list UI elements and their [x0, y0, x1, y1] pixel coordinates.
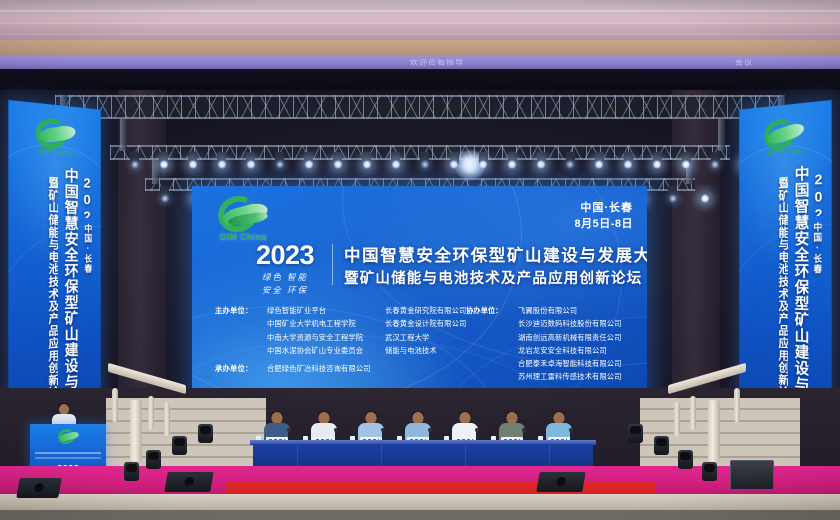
co-organizer-row-spacer: [466, 370, 518, 383]
moving-head-light: [420, 152, 429, 165]
moving-head-light: [160, 186, 169, 199]
floor-light-4: [198, 424, 213, 443]
title-divider: [332, 244, 333, 285]
conference-title-sub: 暨矿山储能与电池技术及产品应用创新论坛: [344, 267, 642, 288]
moving-head-light: [595, 152, 604, 165]
side-right-logo-text: GIM China: [759, 147, 809, 158]
side-right-place: 中国·长春: [812, 222, 821, 284]
side-right-year: 2023: [811, 171, 825, 217]
organizer-row-spacer: [215, 331, 267, 344]
event-place-date: 中国·长春 8月5日-8日: [574, 201, 633, 233]
co-organizer-name: 龙岩龙安安全科技有限公司: [518, 344, 607, 357]
moving-head-light: [700, 186, 709, 199]
year-motto-line1: 绿色 智能: [242, 271, 328, 284]
co-organizer-row-spacer: [466, 331, 518, 344]
moving-head-light: [450, 152, 459, 165]
co-organizer-name: 长沙迪迈数码科技股份有限公司: [518, 317, 622, 330]
truss-main: [55, 95, 785, 119]
moving-head-light: [566, 152, 575, 165]
event-year-block: 2023 绿色 智能 安全 环保: [242, 242, 328, 297]
conference-stage-photo: 欢迎莅临指导 会议 GIM China 中国·长春 8月5日-8日: [0, 0, 840, 520]
year-motto-line2: 安全 环保: [242, 284, 328, 297]
moving-head-light: [537, 152, 546, 165]
organizer-row-spacer: [215, 317, 267, 330]
organizer-row-spacer: [215, 344, 267, 357]
moving-head-light: [333, 152, 342, 165]
organizer-name: 武汉工程大学: [385, 331, 429, 344]
co-organizer-row-spacer: [466, 357, 518, 370]
ceiling-led-ticker: 欢迎莅临指导 会议: [0, 56, 840, 70]
event-place: 中国·长春: [574, 201, 633, 217]
side-banner-left: GIM China 2023 中国·长春 中国智慧安全环保型矿山建设与发展大会 …: [8, 100, 100, 420]
co-organizer-name: 湖南创远高新机械有限责任公司: [518, 331, 622, 344]
moving-head-light: [159, 152, 168, 165]
co-organizer-name: 苏州理工雷科传感技术有限公司: [518, 370, 622, 383]
stage-monitor-left: [164, 472, 214, 492]
moving-head-light: [362, 152, 371, 165]
organizer-name: 中国水泥协会矿山专业委员会: [267, 344, 385, 357]
floor-light-7: [678, 450, 693, 469]
co-organizers-block: 协办单位：飞翼股份有限公司长沙迪迈数码科技股份有限公司湖南创远高新机械有限责任公…: [466, 304, 622, 384]
side-left-logo-text: GIM China: [31, 147, 81, 158]
moving-head-light: [668, 186, 677, 199]
co-organizer-name: 合肥泰禾卓海智能科技有限公司: [518, 357, 622, 370]
side-left-place: 中国·长春: [83, 224, 91, 283]
moving-head-light: [711, 152, 720, 165]
organizer-name: 储能与电池技术: [385, 344, 437, 357]
side-right-title-sub: 暨矿山储能与电池技术及产品应用创新论坛: [777, 177, 788, 416]
side-banner-right: GIM China 2023 中国·长春 中国智慧安全环保型矿山建设与发展大会 …: [739, 100, 831, 420]
floor-light-5: [628, 424, 643, 443]
moving-head-light: [188, 152, 197, 165]
podium-logo: [55, 429, 81, 451]
moving-head-light: [130, 152, 139, 165]
truss-drop-2: [718, 119, 725, 151]
side-left-title-sub: 暨矿山储能与电池技术及产品应用创新论坛: [47, 176, 58, 415]
side-left-title-main: 中国智慧安全环保型矿山建设与发展大会: [64, 167, 78, 414]
moving-head-light: [653, 152, 662, 165]
moving-head-light: [624, 152, 633, 165]
co-organizer-row: 湖南创远高新机械有限责任公司: [466, 331, 622, 344]
floor-light-8: [702, 462, 717, 481]
stage-front-shadow: [0, 510, 840, 520]
floor-light-3: [172, 436, 187, 455]
moving-head-light: [682, 152, 691, 165]
floor-light-6: [654, 436, 669, 455]
stage-monitor-far-left: [16, 478, 62, 498]
ceiling-led-text-right: 会议: [735, 58, 753, 67]
road-case: [730, 460, 774, 490]
co-organizer-row: 协办单位：飞翼股份有限公司: [466, 304, 622, 317]
co-organizers-label: 协办单位：: [466, 304, 518, 317]
moving-head-light: [304, 152, 313, 165]
organizer-name: 长春黄金设计院有限公司: [385, 317, 466, 330]
undertaker-value: 合肥绿色矿冶科技咨询有限公司: [267, 362, 371, 375]
organizer-name: 中国矿业大学机电工程学院: [267, 317, 385, 330]
organizer-name: 绿色智能矿业平台: [267, 304, 385, 317]
co-organizer-row: 长沙迪迈数码科技股份有限公司: [466, 317, 622, 330]
conference-title-main: 中国智慧安全环保型矿山建设与发展大会: [344, 242, 647, 266]
ceiling-led-text: 欢迎莅临指导: [410, 58, 464, 67]
undertaker-label: 承办单位：: [215, 362, 267, 375]
co-organizer-row-spacer: [466, 344, 518, 357]
co-organizer-row: 龙岩龙安安全科技有限公司: [466, 344, 622, 357]
co-organizer-row: 苏州理工雷科传感技术有限公司: [466, 370, 622, 383]
floor-light-1: [124, 462, 139, 481]
wall-column-right: [672, 90, 720, 390]
truss-drop-3: [152, 160, 159, 184]
event-year: 2023: [242, 242, 328, 269]
co-organizer-name: 飞翼股份有限公司: [518, 304, 577, 317]
moving-head-light: [508, 152, 517, 165]
side-left-logo: GIM China: [31, 117, 81, 165]
side-left-year: 2023: [81, 174, 94, 218]
side-right-logo: GIM China: [759, 117, 809, 165]
moving-head-light: [391, 152, 400, 165]
organizer-name: 中南大学资源与安全工程学院: [267, 331, 385, 344]
organizer-name: 长春黄金研究院有限公司: [385, 304, 466, 317]
organizers-label: 主办单位：: [215, 304, 267, 317]
floor-light-2: [146, 450, 161, 469]
side-right-title-main: 中国智慧安全环保型矿山建设与发展大会: [794, 165, 809, 417]
co-organizer-row-spacer: [466, 317, 518, 330]
main-led-screen: GIM China 中国·长春 8月5日-8日 2023 绿色 智能 安全 环保…: [192, 186, 647, 415]
moving-head-light: [275, 152, 284, 165]
event-date: 8月5日-8日: [574, 217, 633, 233]
moving-head-light: [246, 152, 255, 165]
stage-monitor-right: [536, 472, 586, 492]
moving-head-light: [479, 152, 488, 165]
co-organizer-row: 合肥泰禾卓海智能科技有限公司: [466, 357, 622, 370]
moving-head-light: [217, 152, 226, 165]
truss-drop-1: [120, 119, 127, 151]
